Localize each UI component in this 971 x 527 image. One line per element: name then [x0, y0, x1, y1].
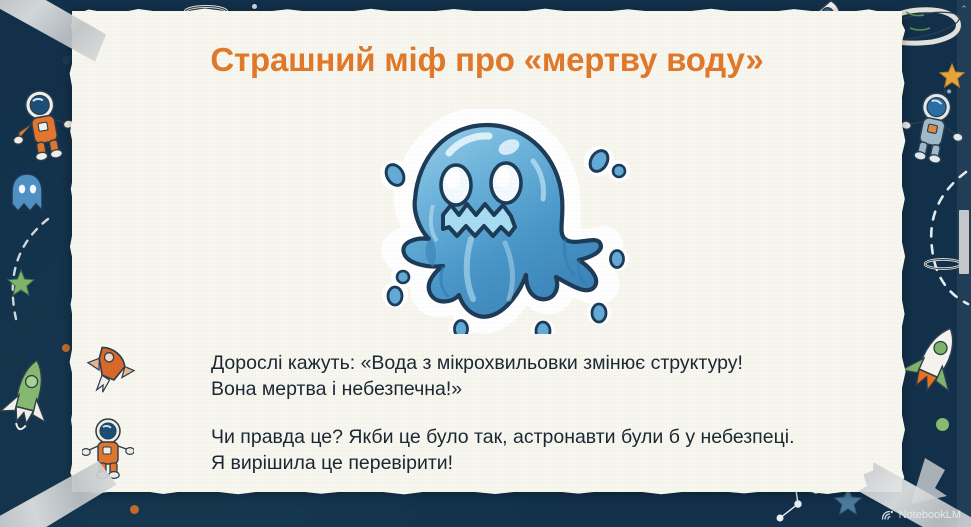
bullet-line: Чи правда це? Якби це було так, астронав…: [211, 424, 795, 450]
slide-canvas: Страшний міф про «мертву воду»: [0, 0, 971, 527]
notebooklm-watermark: NotebookLM: [881, 509, 961, 521]
scrollbar-thumb[interactable]: [959, 210, 969, 274]
list-item: Чи правда це? Якби це було так, астронав…: [227, 424, 952, 476]
bullet-line: Я вирішила це перевірити!: [211, 450, 795, 476]
bullet-line: Дорослі кажуть: «Вода з мікрохвильовки з…: [211, 350, 743, 376]
notebooklm-icon: [881, 510, 894, 521]
bullet-list: Дорослі кажуть: «Вода з мікрохвильовки з…: [227, 350, 952, 498]
water-ghost-sticker: [337, 109, 637, 334]
bullet-text-1: Дорослі кажуть: «Вода з мікрохвильовки з…: [211, 350, 743, 402]
bullet-line: Вона мертва і небезпечна!»: [211, 376, 743, 402]
scrollbar[interactable]: ⌃: [957, 0, 971, 527]
scroll-up-icon[interactable]: ⌃: [957, 2, 971, 16]
notebooklm-label: NotebookLM: [899, 509, 961, 521]
list-item: Дорослі кажуть: «Вода з мікрохвильовки з…: [227, 350, 952, 402]
rocket-paper-doodle: [74, 335, 138, 397]
bullet-text-2: Чи правда це? Якби це було так, астронав…: [211, 424, 795, 476]
paper-sheet: Страшний міф про «мертву воду»: [72, 11, 902, 492]
page-title: Страшний міф про «мертву воду»: [72, 41, 902, 79]
